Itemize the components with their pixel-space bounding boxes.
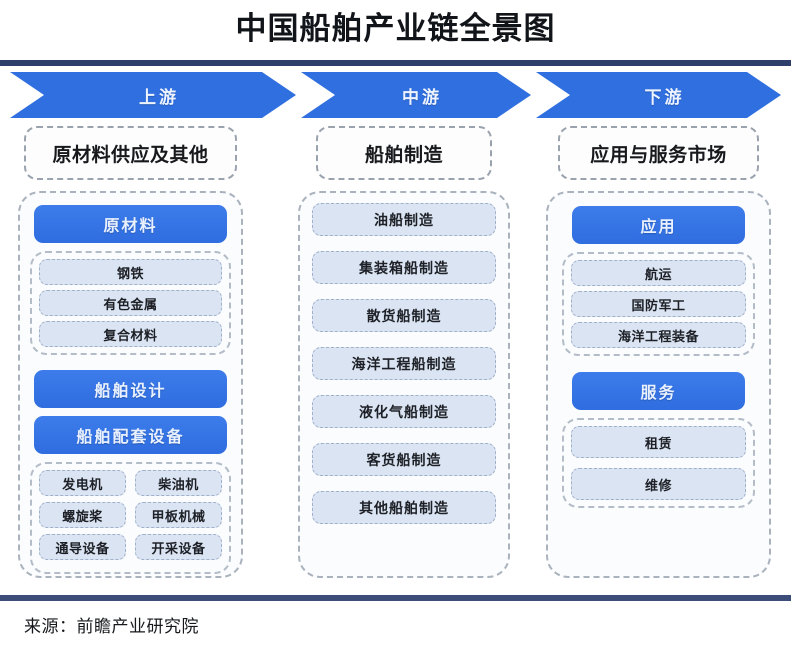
stage-label-upstream: 上游 <box>139 83 179 108</box>
stage-arrow-band: 上游 中游 下游 <box>10 72 781 118</box>
downstream-services-subgroup: 租赁 维修 <box>562 418 755 508</box>
list-item[interactable]: 海洋工程船制造 <box>312 347 496 380</box>
bottom-divider-rule <box>0 595 791 601</box>
list-item[interactable]: 集装箱船制造 <box>312 251 496 284</box>
list-item[interactable]: 发电机 <box>39 470 126 496</box>
upstream-header: 原材料供应及其他 <box>24 126 237 180</box>
stage-arrow-downstream[interactable]: 下游 <box>536 72 781 118</box>
list-item[interactable]: 螺旋桨 <box>39 502 126 528</box>
column-midstream: 船舶制造 油船制造 集装箱船制造 散货船制造 海洋工程船制造 液化气船制造 客货… <box>298 126 510 578</box>
upstream-pill-ship-design[interactable]: 船舶设计 <box>34 370 227 408</box>
stage-label-midstream: 中游 <box>402 83 442 108</box>
top-divider-rule <box>0 60 791 66</box>
downstream-group: 应用 航运 国防军工 海洋工程装备 服务 租赁 维修 <box>546 191 771 578</box>
list-item[interactable]: 钢铁 <box>39 259 222 285</box>
list-item[interactable]: 柴油机 <box>135 470 222 496</box>
upstream-materials-subgroup: 钢铁 有色金属 复合材料 <box>30 251 231 355</box>
list-item[interactable]: 复合材料 <box>39 321 222 347</box>
list-item[interactable]: 客货船制造 <box>312 443 496 476</box>
list-item[interactable]: 国防军工 <box>571 291 746 317</box>
upstream-pill-ship-equipment[interactable]: 船舶配套设备 <box>34 416 227 454</box>
upstream-pill-raw-materials[interactable]: 原材料 <box>34 205 227 243</box>
list-item[interactable]: 开采设备 <box>135 534 222 560</box>
stage-label-downstream: 下游 <box>645 83 685 108</box>
column-upstream: 原材料供应及其他 原材料 钢铁 有色金属 复合材料 船舶设计 船舶配套设备 发电… <box>18 126 243 578</box>
spacer <box>30 355 231 368</box>
list-item[interactable]: 液化气船制造 <box>312 395 496 428</box>
downstream-header: 应用与服务市场 <box>558 126 759 180</box>
stage-arrow-upstream[interactable]: 上游 <box>10 72 296 118</box>
midstream-group: 油船制造 集装箱船制造 散货船制造 海洋工程船制造 液化气船制造 客货船制造 其… <box>298 191 510 578</box>
downstream-pill-service[interactable]: 服务 <box>572 372 745 410</box>
list-item[interactable]: 租赁 <box>571 426 746 458</box>
stage-arrow-midstream[interactable]: 中游 <box>301 72 531 118</box>
spacer <box>558 356 759 369</box>
list-item[interactable]: 有色金属 <box>39 290 222 316</box>
upstream-group: 原材料 钢铁 有色金属 复合材料 船舶设计 船舶配套设备 发电机 柴油机 螺旋桨… <box>18 191 243 578</box>
equipment-grid: 发电机 柴油机 螺旋桨 甲板机械 通导设备 开采设备 <box>39 470 222 566</box>
list-item[interactable]: 航运 <box>571 260 746 286</box>
list-item[interactable]: 油船制造 <box>312 203 496 236</box>
value-chain-columns: 原材料供应及其他 原材料 钢铁 有色金属 复合材料 船舶设计 船舶配套设备 发电… <box>10 126 781 588</box>
page-title: 中国船舶产业链全景图 <box>0 4 791 54</box>
list-item[interactable]: 甲板机械 <box>135 502 222 528</box>
upstream-equipment-subgroup: 发电机 柴油机 螺旋桨 甲板机械 通导设备 开采设备 <box>30 462 231 574</box>
source-note: 来源：前瞻产业研究院 <box>24 612 199 637</box>
list-item[interactable]: 维修 <box>571 468 746 500</box>
downstream-pill-application[interactable]: 应用 <box>572 206 745 244</box>
list-item[interactable]: 其他船舶制造 <box>312 491 496 524</box>
column-downstream: 应用与服务市场 应用 航运 国防军工 海洋工程装备 服务 租赁 维修 <box>546 126 771 578</box>
list-item[interactable]: 通导设备 <box>39 534 126 560</box>
list-item[interactable]: 散货船制造 <box>312 299 496 332</box>
midstream-header: 船舶制造 <box>316 126 492 180</box>
list-item[interactable]: 海洋工程装备 <box>571 322 746 348</box>
downstream-applications-subgroup: 航运 国防军工 海洋工程装备 <box>562 252 755 356</box>
